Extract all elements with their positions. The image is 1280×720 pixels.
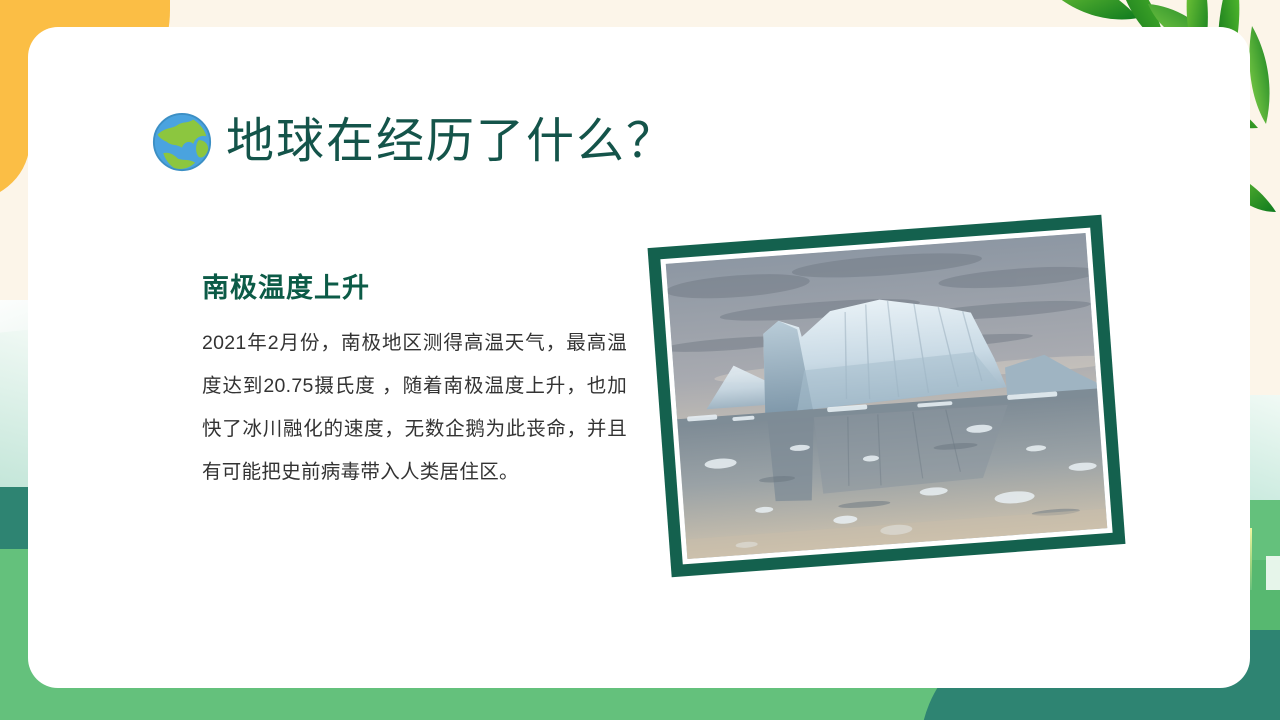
section-heading: 南极温度上升	[202, 272, 627, 304]
lime-highlight-notch	[1266, 556, 1280, 590]
iceberg-photo	[666, 233, 1108, 559]
slide: 地球在经历了什么？ 南极温度上升 2021年2月份，南极地区测得高温天气，最高温…	[0, 0, 1280, 720]
page-title-row: 地球在经历了什么？	[152, 112, 676, 172]
page-title: 地球在经历了什么？	[226, 118, 676, 166]
text-block: 南极温度上升 2021年2月份，南极地区测得高温天气，最高温度达到20.75摄氏…	[202, 272, 627, 494]
globe-earth-icon	[152, 112, 212, 172]
section-body: 2021年2月份，南极地区测得高温天气，最高温度达到20.75摄氏度 ，随着南极…	[202, 322, 627, 494]
photo-card	[648, 215, 1126, 577]
orange-corner-shape-secondary	[0, 60, 30, 200]
